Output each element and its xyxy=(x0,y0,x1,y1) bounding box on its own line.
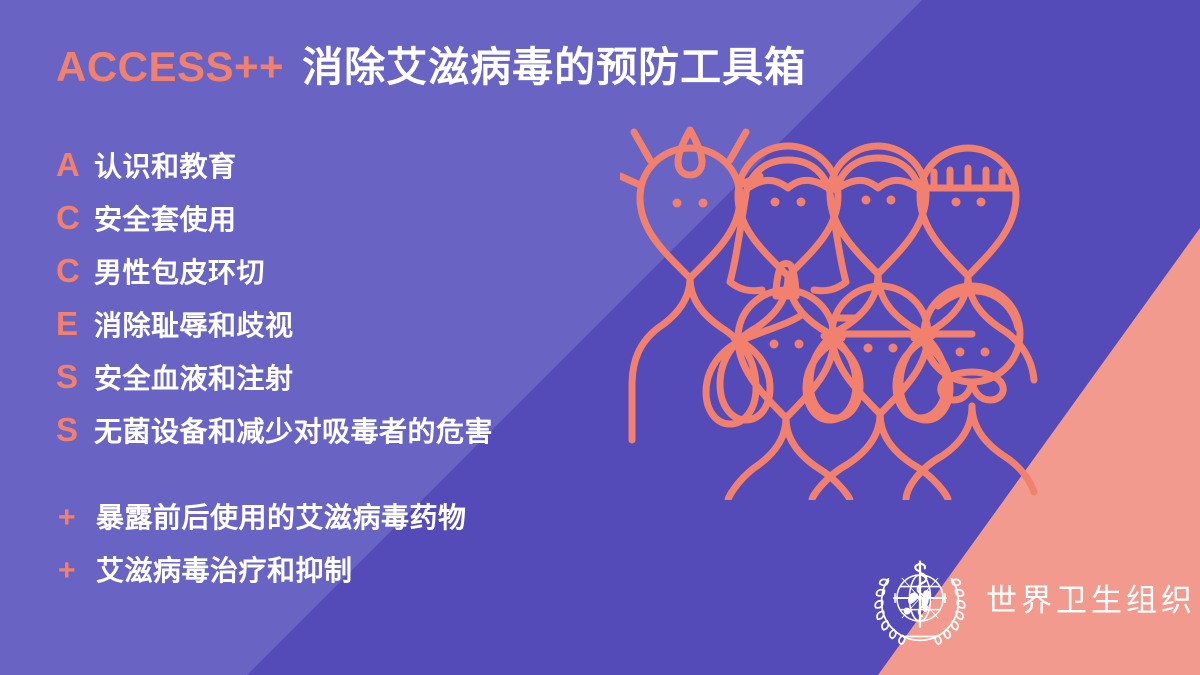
people-illustration xyxy=(620,110,1040,500)
list-item: C 男性包皮环切 xyxy=(56,254,676,307)
figure-moustache xyxy=(906,286,1034,500)
acronym-label: 安全套使用 xyxy=(94,206,237,234)
acronym-letter: S xyxy=(56,360,94,393)
figure-cap xyxy=(728,264,850,501)
plus-label: 艾滋病毒治疗和抑制 xyxy=(96,557,353,585)
plus-icon: + xyxy=(56,556,96,586)
poster-header: ACCESS++ 消除艾滋病毒的预防工具箱 xyxy=(56,46,806,88)
acronym-list: A 认识和教育 C 安全套使用 C 男性包皮环切 E 消除耻辱和歧视 S 安全血… xyxy=(56,148,676,609)
acronym-letter: A xyxy=(56,148,94,181)
plus-label: 暴露前后使用的艾滋病毒药物 xyxy=(96,504,467,532)
acronym-letter: S xyxy=(56,413,94,446)
acronym-label: 认识和教育 xyxy=(94,153,237,181)
acronym-letter: C xyxy=(56,254,94,287)
list-item: S 安全血液和注射 xyxy=(56,360,676,413)
plus-list: + 暴露前后使用的艾滋病毒药物 + 艾滋病毒治疗和抑制 xyxy=(56,503,676,609)
poster-canvas: ACCESS++ 消除艾滋病毒的预防工具箱 A 认识和教育 C 安全套使用 C … xyxy=(0,0,1200,675)
list-item: + 暴露前后使用的艾滋病毒药物 xyxy=(56,503,676,556)
who-logo: 世界卫生组织 xyxy=(872,552,1196,648)
list-item: E 消除耻辱和歧视 xyxy=(56,307,676,360)
list-item: + 艾滋病毒治疗和抑制 xyxy=(56,556,676,609)
acronym-letter: C xyxy=(56,201,94,234)
brand-wordmark: ACCESS++ xyxy=(56,46,284,88)
acronym-label: 无菌设备和减少对吸毒者的危害 xyxy=(94,418,493,446)
acronym-letter: E xyxy=(56,307,94,340)
acronym-label: 安全血液和注射 xyxy=(94,365,294,393)
who-emblem-icon xyxy=(872,552,968,648)
list-item: A 认识和教育 xyxy=(56,148,676,201)
acronym-label: 男性包皮环切 xyxy=(94,259,265,287)
acronym-label: 消除耻辱和歧视 xyxy=(94,312,294,340)
page-title: 消除艾滋病毒的预防工具箱 xyxy=(302,47,806,88)
organization-name: 世界卫生组织 xyxy=(986,585,1196,616)
list-item: C 安全套使用 xyxy=(56,201,676,254)
list-item: S 无菌设备和减少对吸毒者的危害 xyxy=(56,413,676,466)
plus-icon: + xyxy=(56,503,96,533)
